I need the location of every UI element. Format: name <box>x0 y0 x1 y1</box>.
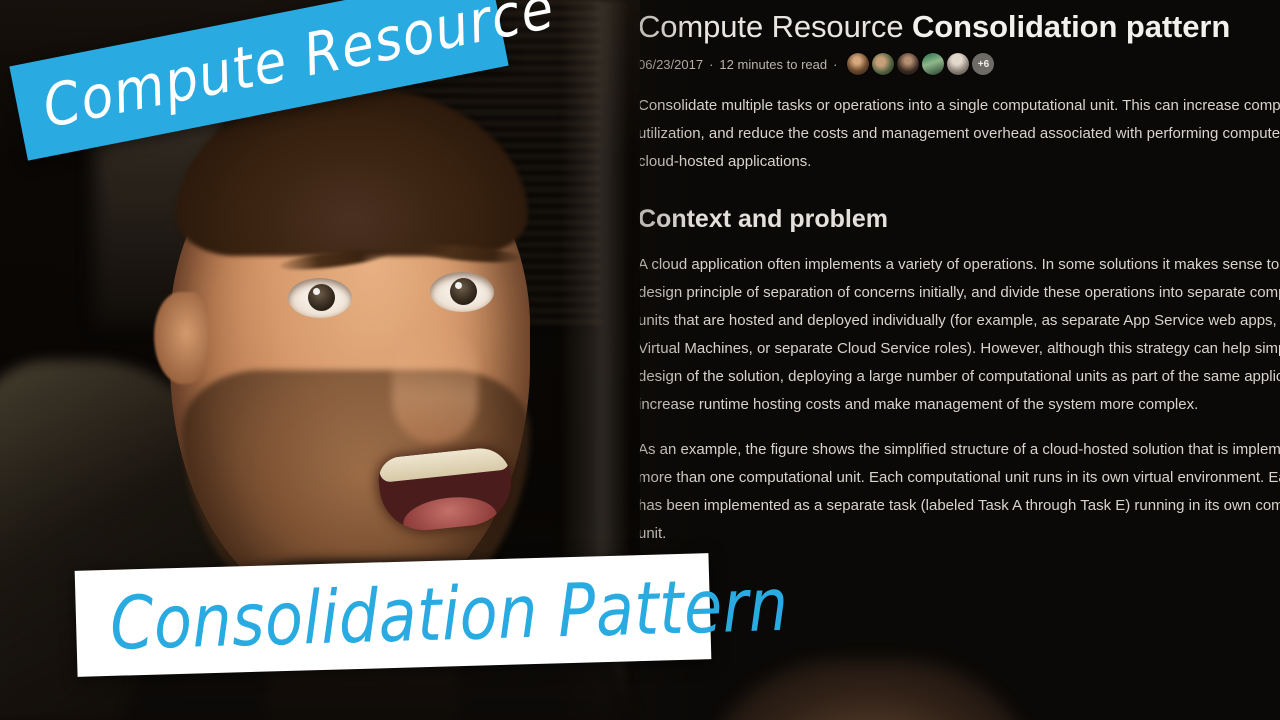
title-banner-bottom-text: Consolidation Pattern <box>75 561 790 667</box>
article-paragraph-1: A cloud application often implements a v… <box>638 251 1280 419</box>
meta-separator-1: · <box>709 57 713 72</box>
avatar[interactable] <box>872 53 894 75</box>
avatar-overflow-badge[interactable]: +6 <box>972 53 994 75</box>
avatar[interactable] <box>947 53 969 75</box>
article-content: Compute Resource Consolidation pattern 0… <box>638 0 1280 548</box>
page-title-strong: Consolidation pattern <box>912 9 1230 44</box>
read-time: 12 minutes to read <box>719 57 827 72</box>
publish-date: 06/23/2017 <box>638 57 703 72</box>
avatar[interactable] <box>897 53 919 75</box>
contributor-avatars[interactable]: +6 <box>847 53 994 75</box>
meta-separator-2: · <box>833 57 837 72</box>
page-title: Compute Resource Consolidation pattern <box>638 0 1280 46</box>
article-paragraph-2: As an example, the figure shows the simp… <box>638 436 1280 548</box>
section-heading-context-and-problem: Context and problem <box>638 204 1280 234</box>
video-frame: Compute Resource Consolidation pattern 0… <box>0 0 1280 720</box>
avatar[interactable] <box>847 53 869 75</box>
title-banner-bottom: Consolidation Pattern <box>75 553 712 677</box>
article-intro-paragraph: Consolidate multiple tasks or operations… <box>638 92 1280 176</box>
page-title-light: Compute Resource <box>638 9 912 44</box>
avatar[interactable] <box>922 53 944 75</box>
article-metadata: 06/23/2017 · 12 minutes to read · +6 <box>638 53 1280 75</box>
